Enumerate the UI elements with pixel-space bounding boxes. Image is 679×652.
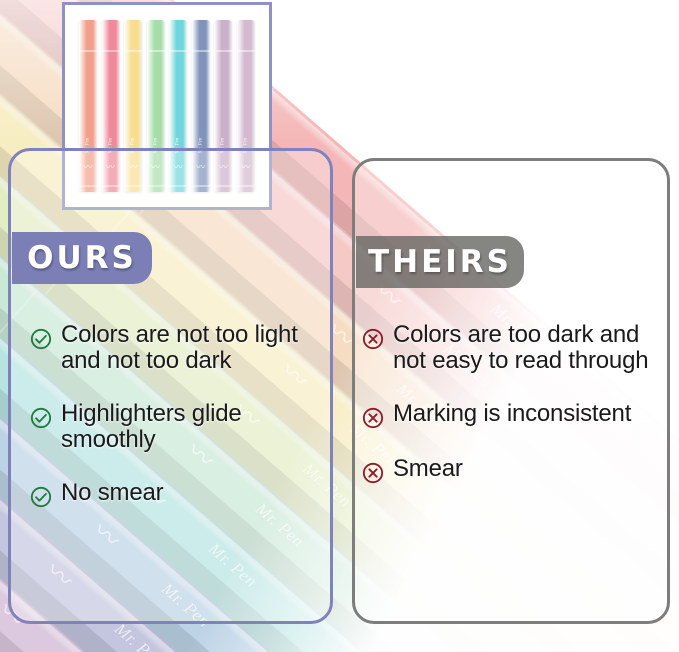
list-item: Highlighters glide smoothly (30, 401, 330, 453)
list-item-label: Highlighters glide smoothly (61, 401, 330, 453)
check-circle-icon (30, 486, 52, 508)
inset-pen-cap-seam (79, 50, 97, 52)
list-item-label: No smear (61, 480, 163, 506)
inset-pen-cap-seam (102, 50, 120, 52)
check-circle-icon (30, 407, 52, 429)
list-item: No smear (30, 480, 330, 508)
inset-pen-cap-seam (169, 50, 187, 52)
list-item: Smear (362, 456, 662, 484)
x-circle-icon (362, 462, 384, 484)
list-item-label: Marking is inconsistent (393, 401, 631, 427)
list-item-label: Smear (393, 456, 463, 482)
inset-pen-cap-seam (192, 50, 210, 52)
inset-pen-cap-seam (237, 50, 255, 52)
ours-feature-list: Colors are not too light and not too dar… (30, 322, 330, 535)
x-circle-icon (362, 328, 384, 350)
list-item: Colors are too dark and not easy to read… (362, 322, 662, 374)
check-circle-icon (30, 328, 52, 350)
badge-theirs: THEIRS (356, 236, 524, 288)
inset-pen-cap-seam (124, 50, 142, 52)
badge-ours: OURS (12, 232, 152, 284)
list-item: Marking is inconsistent (362, 401, 662, 429)
comparison-infographic: 〰Mr. Pen〰Mr. Pen〰Mr. Pen〰Mr. Pen〰Mr. Pen… (0, 0, 679, 652)
list-item: Colors are not too light and not too dar… (30, 322, 330, 374)
x-circle-icon (362, 407, 384, 429)
list-item-label: Colors are not too light and not too dar… (61, 322, 330, 374)
list-item-label: Colors are too dark and not easy to read… (393, 322, 662, 374)
theirs-feature-list: Colors are too dark and not easy to read… (362, 322, 662, 511)
inset-pen-cap-seam (214, 50, 232, 52)
inset-pen-cap-seam (147, 50, 165, 52)
